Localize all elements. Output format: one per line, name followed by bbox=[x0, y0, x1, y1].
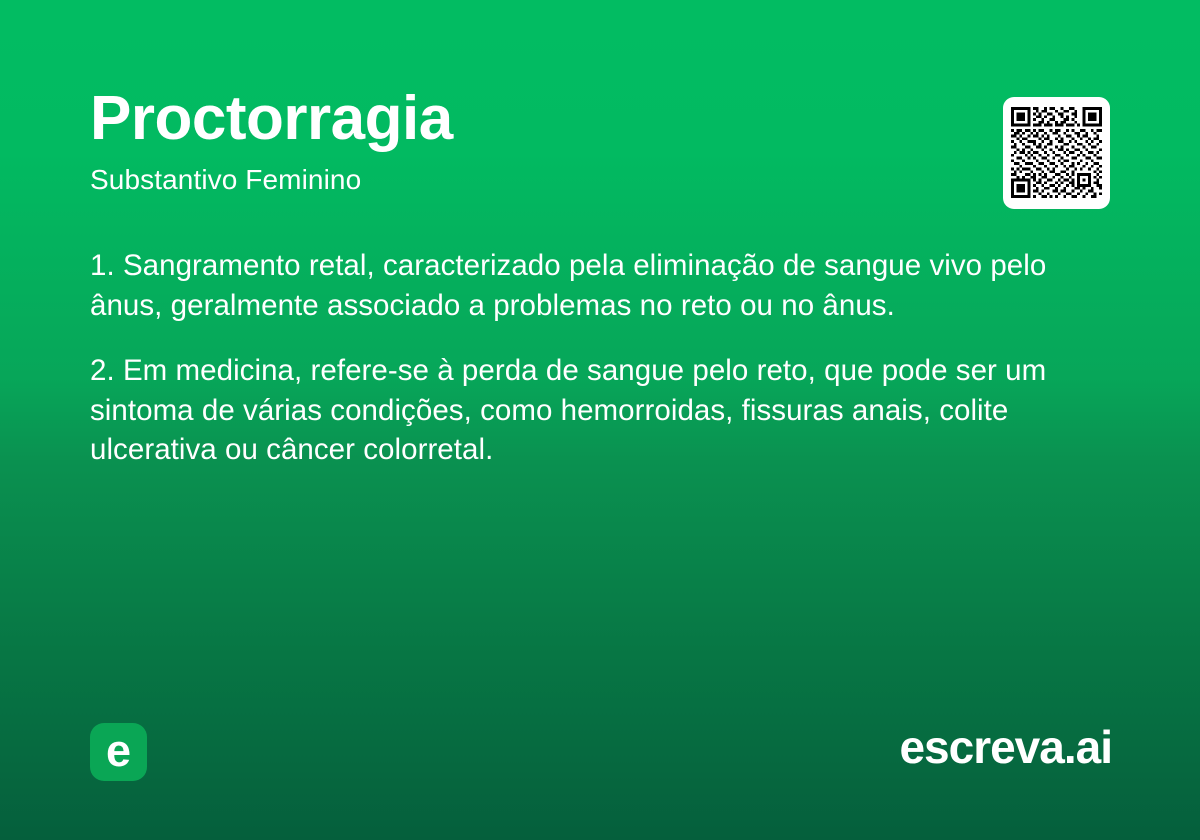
brand-wordmark: escreva.ai bbox=[899, 724, 1112, 770]
brand-logo-letter: e bbox=[90, 723, 147, 781]
qr-code-icon bbox=[1011, 105, 1102, 200]
dictionary-card: Proctorragia Substantivo Feminino 1. San… bbox=[0, 0, 1200, 840]
page-title: Proctorragia bbox=[90, 88, 970, 150]
definition-list: 1. Sangramento retal, caracterizado pela… bbox=[90, 246, 1110, 470]
brand-logo-badge[interactable]: e bbox=[90, 723, 147, 781]
header-block: Proctorragia Substantivo Feminino bbox=[90, 88, 970, 194]
definition-item: 1. Sangramento retal, caracterizado pela… bbox=[90, 246, 1110, 325]
word-class-label: Substantivo Feminino bbox=[90, 166, 970, 194]
definition-item: 2. Em medicina, refere-se à perda de san… bbox=[90, 351, 1110, 470]
qr-code-container[interactable] bbox=[1003, 97, 1110, 209]
